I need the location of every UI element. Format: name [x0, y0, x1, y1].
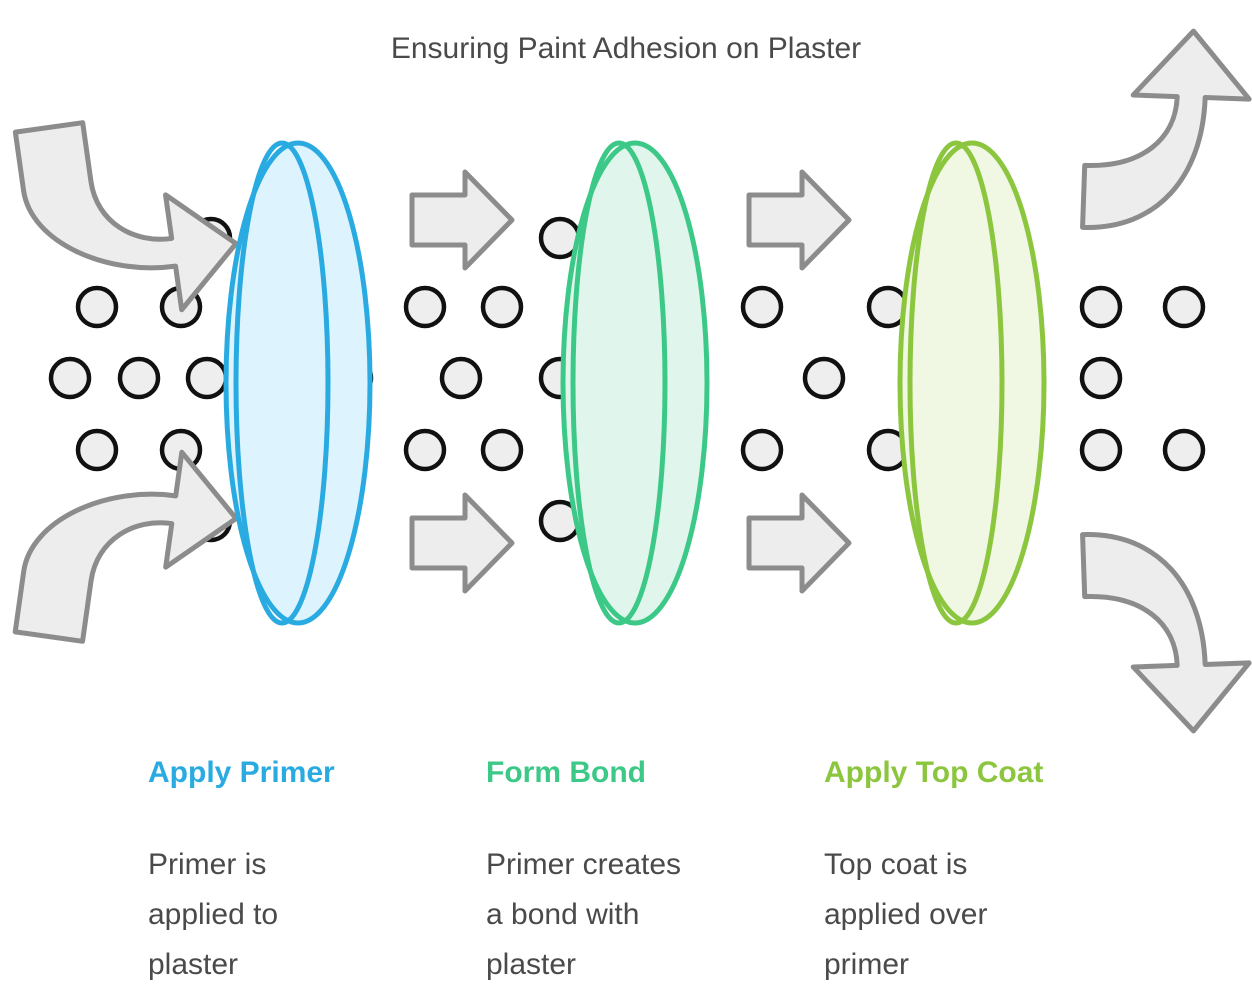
- step-text-group: Apply PrimerPrimer isapplied toplasterFo…: [148, 756, 1043, 981]
- step-description-form-bond: Primer createsa bond withplaster: [486, 848, 681, 981]
- plaster-particle-dot: [406, 431, 444, 469]
- step-description-line: primer: [824, 948, 909, 981]
- plaster-particle-dot: [442, 359, 480, 397]
- plaster-particle-dot: [743, 288, 781, 326]
- plaster-particle-dot: [406, 288, 444, 326]
- block-arrow-right: [412, 172, 512, 268]
- step-label-apply-primer[interactable]: Apply Primer: [148, 756, 335, 789]
- step-description-line: applied to: [148, 898, 278, 931]
- coating-ellipse-form-bond: [563, 143, 707, 623]
- plaster-particle-dot: [805, 359, 843, 397]
- step-description-line: plaster: [486, 948, 576, 981]
- curved-arrow-in-bottom: [15, 433, 244, 660]
- coating-layer-ellipses: [226, 143, 1044, 623]
- plaster-particle-dot: [1082, 288, 1120, 326]
- coating-ellipse-apply-top-coat: [900, 143, 1044, 623]
- step-description-line: applied over: [824, 898, 987, 931]
- paint-adhesion-diagram: Ensuring Paint Adhesion on Plaster: [0, 0, 1252, 1008]
- step-description-apply-primer: Primer isapplied toplaster: [148, 848, 278, 981]
- step-label-apply-top-coat[interactable]: Apply Top Coat: [824, 756, 1043, 789]
- step-description-line: Primer creates: [486, 848, 681, 881]
- plaster-particle-dot: [743, 431, 781, 469]
- page-title: Ensuring Paint Adhesion on Plaster: [391, 32, 861, 65]
- block-arrow-right: [749, 172, 849, 268]
- plaster-particle-dot: [78, 431, 116, 469]
- plaster-particle-dot: [1082, 359, 1120, 397]
- plaster-particle-dot: [78, 288, 116, 326]
- plaster-particle-dot: [1165, 288, 1203, 326]
- step-label-form-bond[interactable]: Form Bond: [486, 756, 646, 789]
- curved-arrow-in-top: [15, 104, 244, 329]
- plaster-particle-dot: [1165, 431, 1203, 469]
- step-description-line: Primer is: [148, 848, 266, 881]
- plaster-particle-dot: [188, 359, 226, 397]
- curved-arrow-out-top: [1083, 27, 1252, 233]
- step-description-line: plaster: [148, 948, 238, 981]
- step-description-apply-top-coat: Top coat isapplied overprimer: [824, 848, 987, 981]
- plaster-particle-dot: [483, 431, 521, 469]
- step-description-line: Top coat is: [824, 848, 967, 881]
- plaster-particle-dot: [120, 359, 158, 397]
- curved-arrow-out-bottom: [1083, 529, 1252, 735]
- plaster-particle-dot: [1082, 431, 1120, 469]
- coating-ellipse-apply-primer: [226, 143, 370, 623]
- block-arrow-right: [412, 495, 512, 591]
- plaster-particle-dot: [483, 288, 521, 326]
- block-arrow-right: [749, 495, 849, 591]
- plaster-particle-dot: [51, 359, 89, 397]
- diagram-canvas: Ensuring Paint Adhesion on Plaster: [0, 0, 1252, 1008]
- step-description-line: a bond with: [486, 898, 639, 931]
